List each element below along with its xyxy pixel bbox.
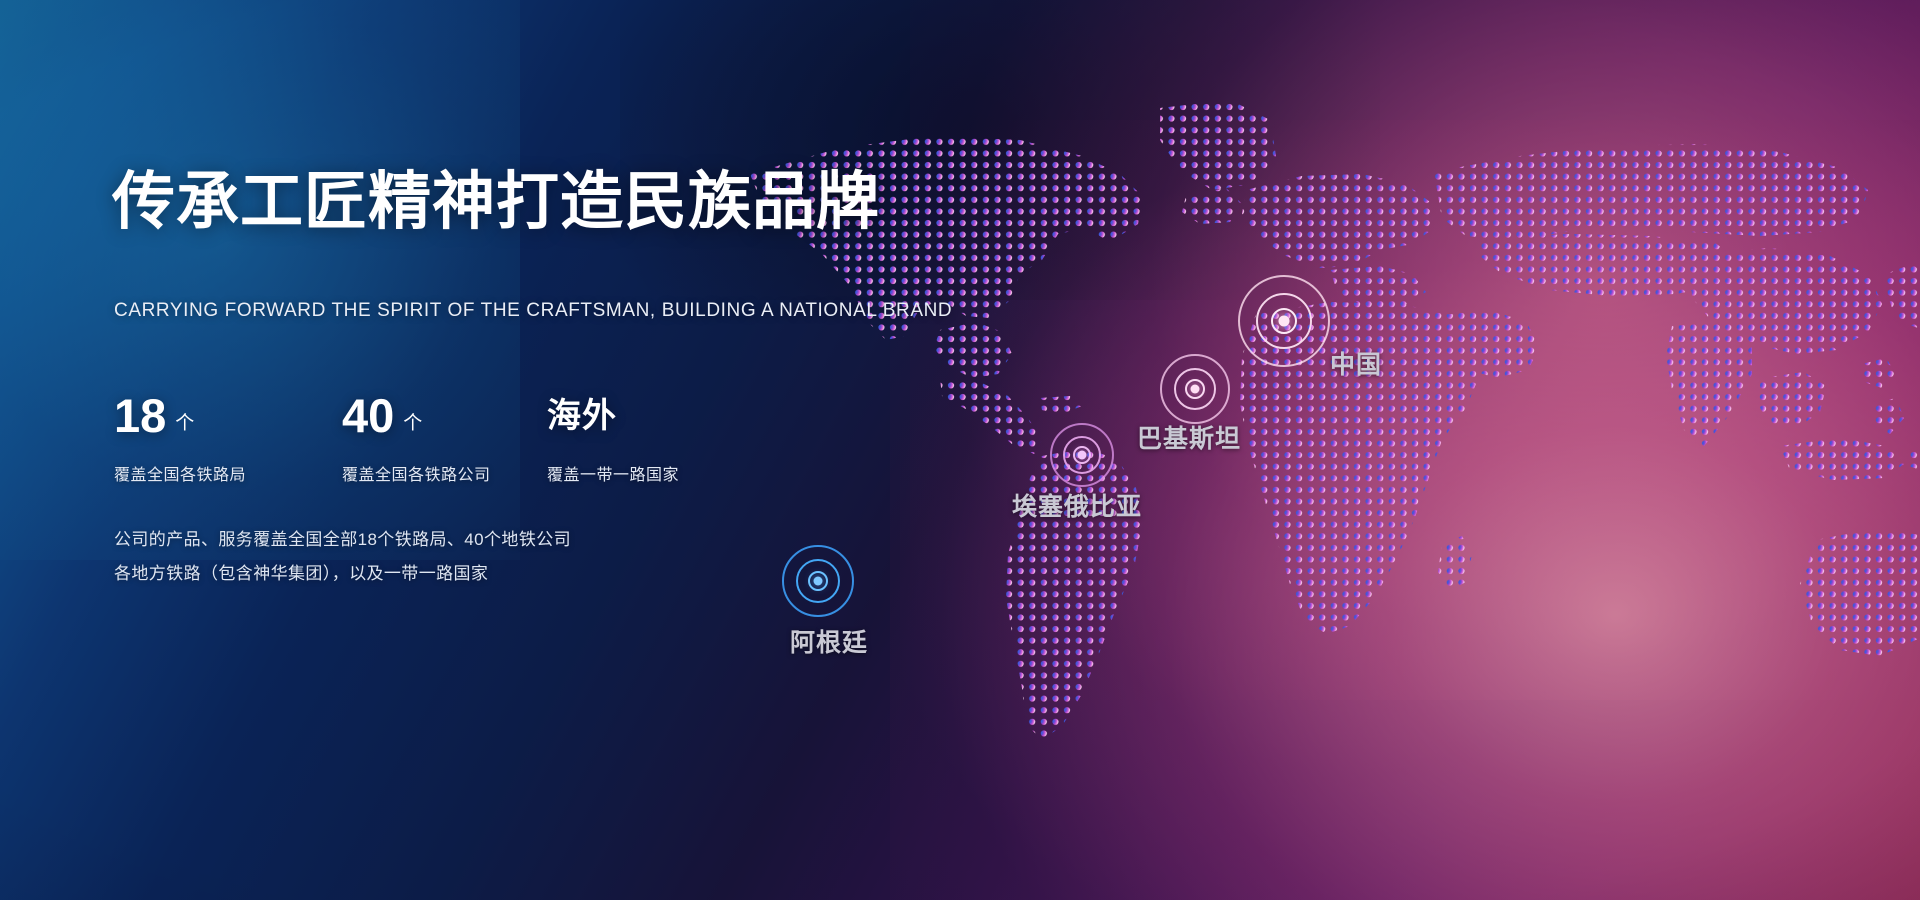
page-subtitle: CARRYING FORWARD THE SPIRIT OF THE CRAFT… <box>114 300 952 322</box>
stat-number: 18 <box>114 388 166 443</box>
stat-item-railway-bureaus: 18 个 覆盖全国各铁路局 <box>114 388 342 485</box>
stat-number: 40 <box>342 388 394 443</box>
description-paragraph: 公司的产品、服务覆盖全国全部18个铁路局、40个地铁公司 各地方铁路（包含神华集… <box>114 523 571 591</box>
stat-value-group: 18 个 <box>114 388 342 448</box>
stat-value-group: 海外 <box>547 388 767 448</box>
description-line-2: 各地方铁路（包含神华集团），以及一带一路国家 <box>114 557 571 591</box>
stat-label: 覆盖一带一路国家 <box>547 461 767 485</box>
stat-number: 海外 <box>547 388 617 437</box>
stats-row: 18 个 覆盖全国各铁路局 40 个 覆盖全国各铁路公司 海外 覆盖一带一路国家 <box>114 388 767 485</box>
stat-unit: 个 <box>403 408 422 435</box>
page-title: 传承工匠精神打造民族品牌 <box>112 168 880 237</box>
stat-label: 覆盖全国各铁路公司 <box>342 461 547 485</box>
stat-label: 覆盖全国各铁路局 <box>114 461 342 485</box>
description-line-1: 公司的产品、服务覆盖全国全部18个铁路局、40个地铁公司 <box>114 523 571 557</box>
stat-value-group: 40 个 <box>342 388 547 448</box>
banner-content: 传承工匠精神打造民族品牌 CARRYING FORWARD THE SPIRIT… <box>112 0 992 900</box>
stat-item-railway-companies: 40 个 覆盖全国各铁路公司 <box>342 388 547 485</box>
stat-unit: 个 <box>175 408 194 435</box>
stat-item-overseas: 海外 覆盖一带一路国家 <box>547 388 767 485</box>
banner-stage: 中国 巴基斯坦 埃塞俄比亚 阿根廷 传承工匠精神打造民族品牌 CARRY <box>0 0 1920 900</box>
